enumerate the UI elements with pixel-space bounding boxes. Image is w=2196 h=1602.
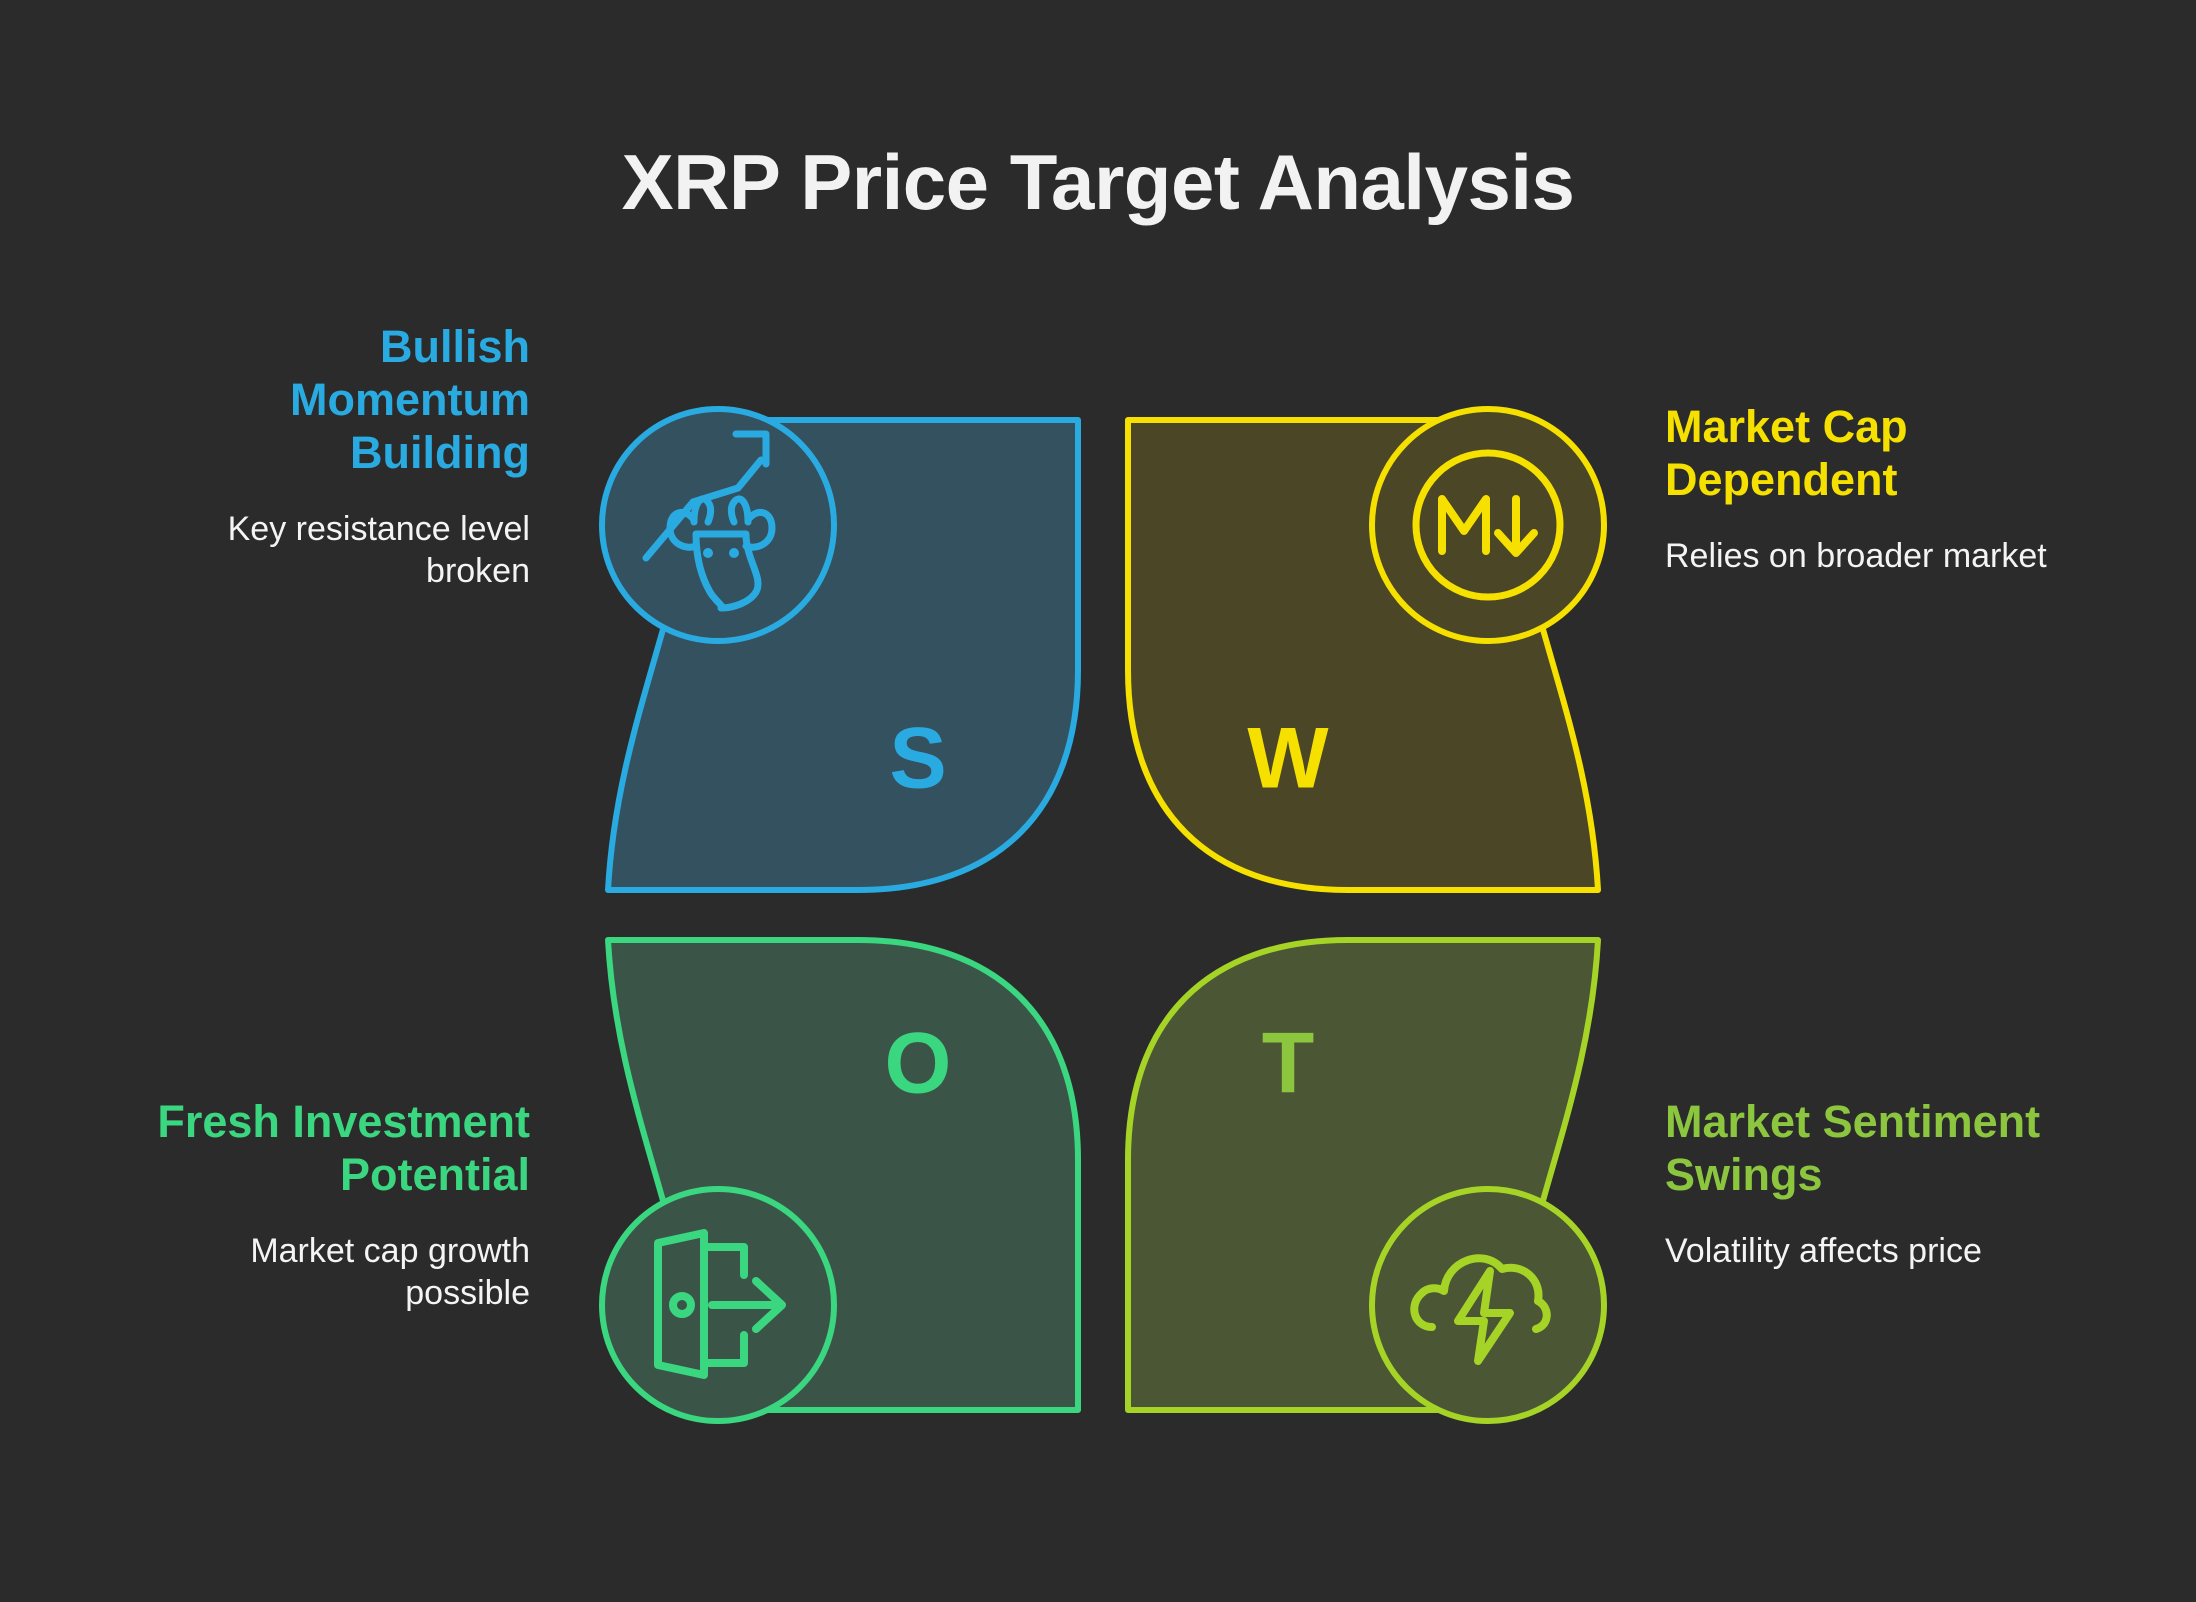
quadrant-heading-opportunities: Fresh Investment Potential (130, 1095, 530, 1201)
swot-quadrant-opportunities[interactable] (602, 940, 1078, 1421)
quadrant-heading-weaknesses: Market Cap Dependent (1665, 400, 2065, 506)
weaknesses-letter: W (1247, 711, 1329, 807)
opportunities-letter: O (885, 1016, 952, 1112)
quadrant-label-strengths: Bullish Momentum Building Key resistance… (130, 320, 530, 592)
swot-quadrant-threats[interactable] (1128, 940, 1604, 1421)
page-title: XRP Price Target Analysis (0, 140, 2196, 226)
quadrant-description-opportunities: Market cap growth possible (130, 1231, 530, 1314)
quadrant-description-strengths: Key resistance level broken (130, 509, 530, 592)
bull-trend-up-icon (602, 409, 834, 641)
quadrant-description-weaknesses: Relies on broader market (1665, 536, 2065, 577)
swot-quadrant-strengths[interactable]: S (602, 409, 1078, 890)
quadrant-description-threats: Volatility affects price (1665, 1231, 2065, 1272)
threats-letter: T (1262, 1016, 1315, 1112)
infographic-canvas: XRP Price Target Analysis Bullish Moment… (0, 0, 2196, 1602)
quadrant-label-threats: Market Sentiment Swings Volatility affec… (1665, 1095, 2065, 1273)
swot-matrix: S (598, 410, 1608, 1420)
quadrant-heading-strengths: Bullish Momentum Building (130, 320, 530, 479)
quadrant-label-opportunities: Fresh Investment Potential Market cap gr… (130, 1095, 530, 1314)
swot-quadrant-weaknesses[interactable] (1128, 409, 1604, 890)
quadrant-heading-threats: Market Sentiment Swings (1665, 1095, 2065, 1201)
strengths-letter: S (889, 711, 946, 807)
quadrant-label-weaknesses: Market Cap Dependent Relies on broader m… (1665, 400, 2065, 578)
